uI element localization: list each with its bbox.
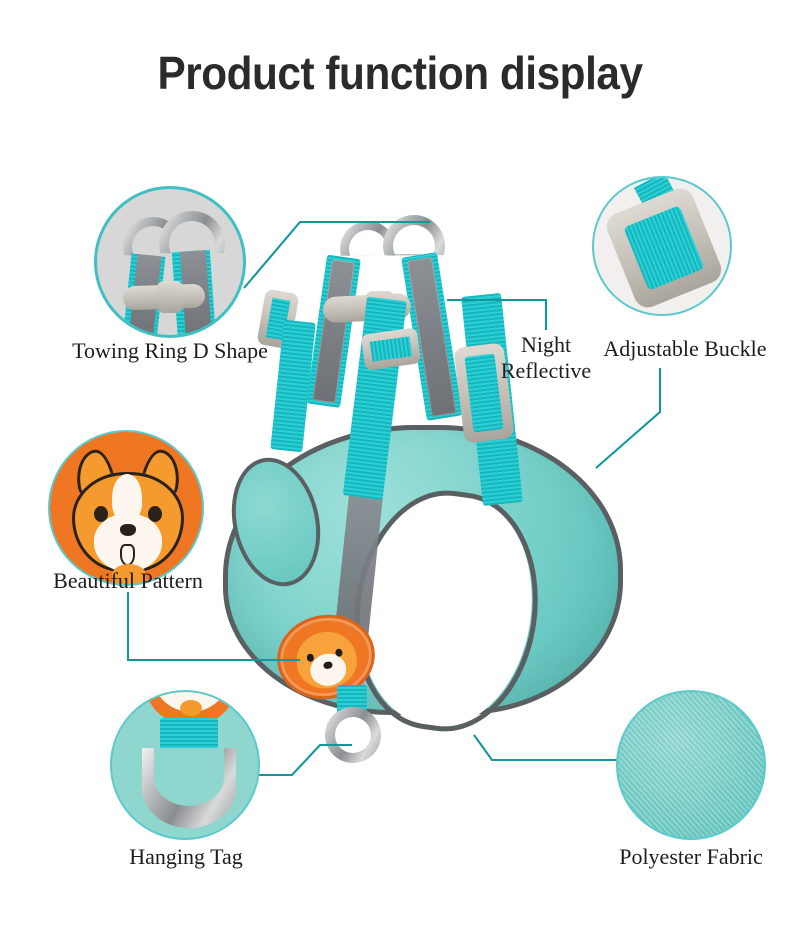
corgi-eye-right — [148, 506, 162, 522]
page-title: Product function display — [32, 46, 768, 100]
callout-circle-towing-ring[interactable] — [94, 186, 246, 338]
bottom-d-ring-hole — [335, 717, 371, 753]
callout-circle-beautiful-pattern[interactable] — [48, 430, 204, 586]
callout-circle-adjustable-buckle[interactable] — [592, 176, 732, 316]
callout-circle-polyester-fabric[interactable] — [616, 690, 766, 840]
corgi-nose — [120, 524, 136, 536]
corgi-tongue — [120, 544, 135, 566]
hanging-tag-d-ring-hole — [154, 748, 224, 806]
label-night-reflective-line1: Night — [521, 332, 571, 357]
label-beautiful-pattern: Beautiful Pattern — [8, 568, 248, 594]
corgi-eye-left — [94, 506, 108, 522]
towing-clasp-tab — [157, 281, 183, 313]
callout-circle-hanging-tag[interactable] — [110, 690, 260, 840]
hanging-tag-patch-dot — [180, 700, 202, 716]
label-towing-ring: Towing Ring D Shape — [10, 338, 330, 364]
label-polyester-fabric: Polyester Fabric — [586, 844, 796, 870]
label-adjustable-buckle: Adjustable Buckle — [572, 336, 798, 362]
product-photo — [215, 195, 635, 755]
label-hanging-tag: Hanging Tag — [88, 844, 284, 870]
